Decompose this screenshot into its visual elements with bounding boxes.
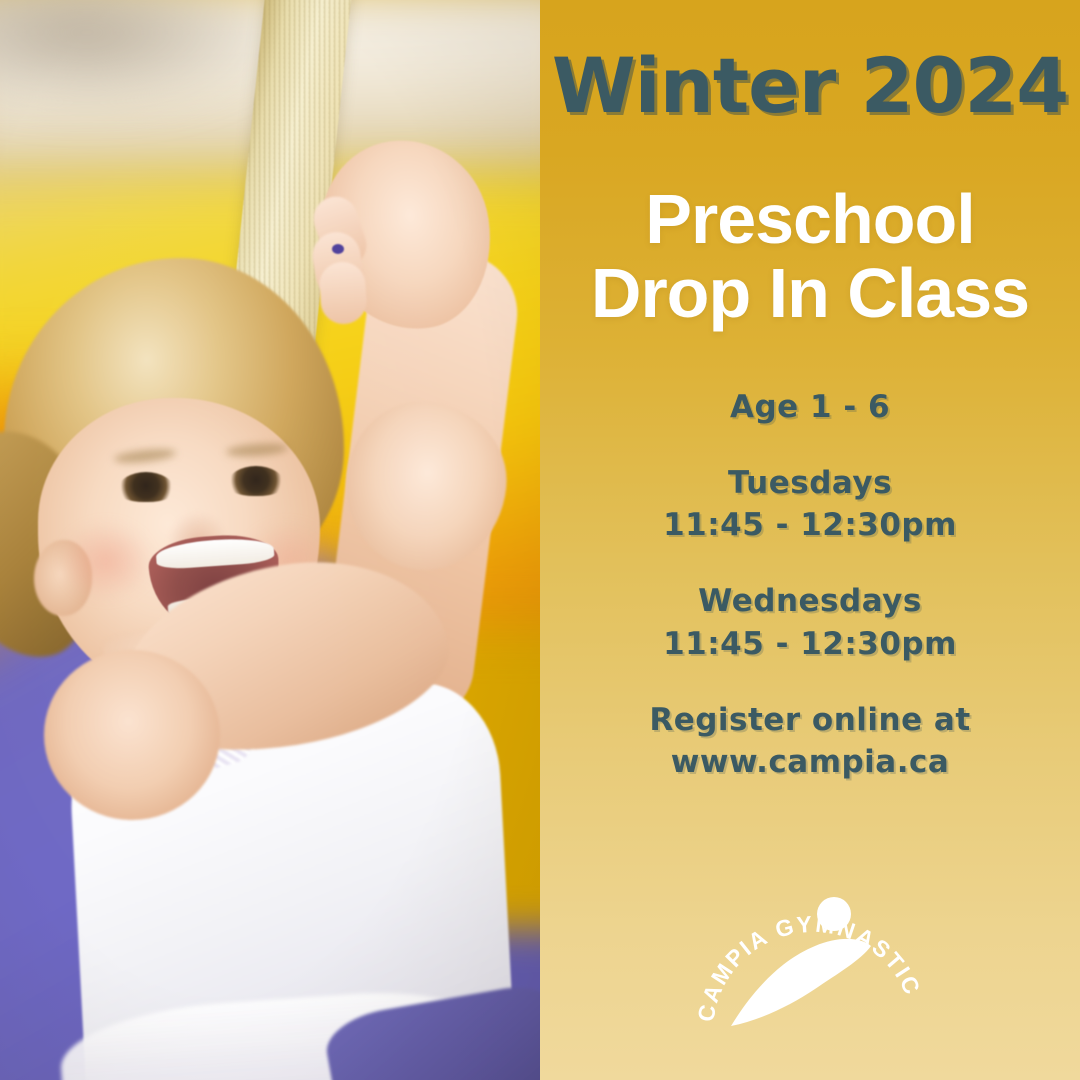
age-range-line-1: Age 1 - 6 <box>570 386 1050 428</box>
registration-instruction: Register online at <box>570 699 1050 741</box>
wednesday-schedule: Wednesdays 11:45 - 12:30pm <box>570 580 1050 664</box>
gymnast-head-icon <box>817 897 851 931</box>
blurred-shelf-shadow <box>0 0 281 108</box>
child-painted-nail <box>332 244 344 254</box>
headline-line-2: Drop In Class <box>560 256 1060 330</box>
child-cheek-left <box>58 520 154 602</box>
hero-photo <box>0 0 540 1080</box>
registration-website[interactable]: www.campia.ca <box>570 741 1050 783</box>
poster-canvas: Winter 2024 Preschool Drop In Class Age … <box>0 0 1080 1080</box>
child-eye-right <box>228 466 284 496</box>
child-elbow <box>44 650 220 820</box>
tuesday-day-label: Tuesdays <box>570 462 1050 504</box>
class-details: Age 1 - 6 Tuesdays 11:45 - 12:30pm Wedne… <box>570 386 1050 783</box>
child-finger-3 <box>318 260 368 325</box>
logo-arc-text: CAMPIA GYMNASTICS <box>695 848 925 1024</box>
age-range: Age 1 - 6 <box>570 386 1050 428</box>
season-title: Winter 2024 <box>540 48 1080 124</box>
headline-line-1: Preschool <box>560 182 1060 256</box>
info-panel: Winter 2024 Preschool Drop In Class Age … <box>540 0 1080 1080</box>
campia-gymnastics-logo: CAMPIA GYMNASTICS <box>695 848 925 1058</box>
registration: Register online at www.campia.ca <box>570 699 1050 783</box>
wednesday-time-label: 11:45 - 12:30pm <box>570 623 1050 665</box>
child-eye-left <box>118 472 174 502</box>
wednesday-day-label: Wednesdays <box>570 580 1050 622</box>
tuesday-schedule: Tuesdays 11:45 - 12:30pm <box>570 462 1050 546</box>
page-title: Preschool Drop In Class <box>560 182 1060 330</box>
tuesday-time-label: 11:45 - 12:30pm <box>570 504 1050 546</box>
